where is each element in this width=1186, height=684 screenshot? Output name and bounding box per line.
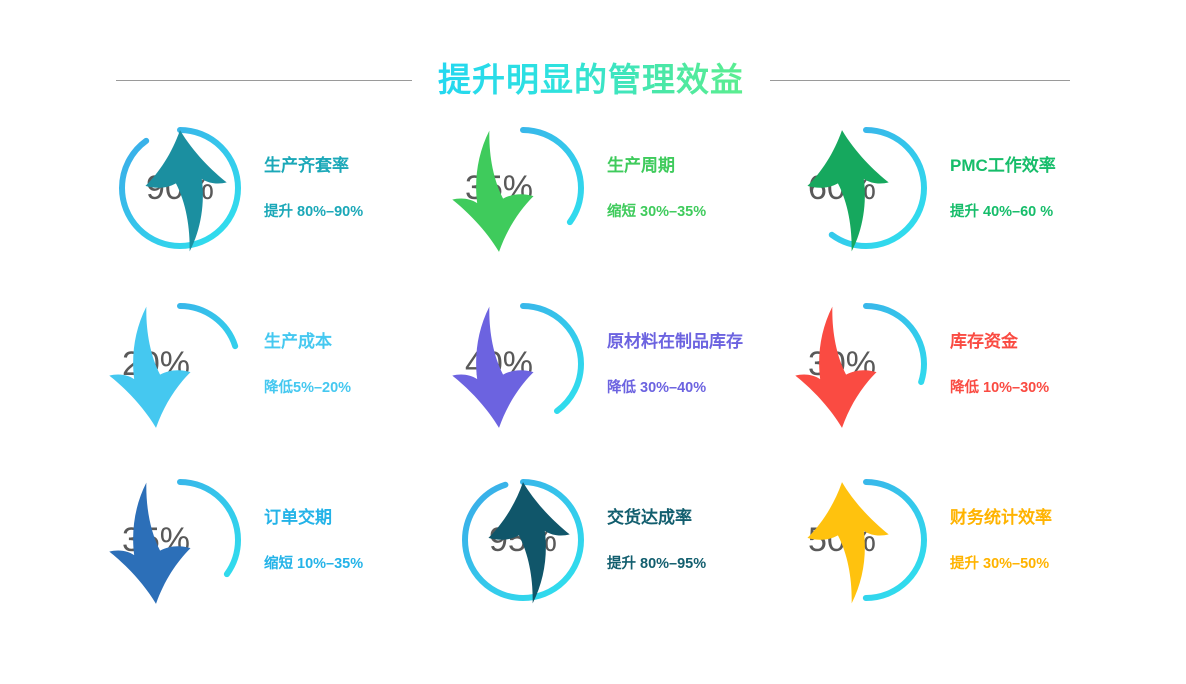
donut-gauge: 40% (457, 298, 589, 430)
gauge-arc (800, 122, 932, 254)
gauge-cell: 90%生产齐套率提升 80%–90% (92, 122, 435, 298)
metric-caption: 交货达成率 (607, 508, 692, 528)
gauge-arc (800, 474, 932, 606)
gauge-cell: 30%库存资金降低 10%–30% (778, 298, 1121, 474)
gauge-labels: 原材料在制品库存降低 30%–40% (607, 332, 743, 398)
gauge-labels: 生产周期缩短 30%–35% (607, 156, 706, 222)
gauge-labels: 生产成本降低5%–20% (264, 332, 351, 398)
gauge-labels: 订单交期缩短 10%–35% (264, 508, 363, 574)
donut-gauge: 35% (457, 122, 589, 254)
donut-gauge: 95% (457, 474, 589, 606)
gauge-arc (114, 474, 246, 606)
header-rule-left (116, 80, 412, 81)
metric-detail: 提升 80%–90% (264, 204, 363, 221)
metric-caption: PMC工作效率 (950, 156, 1056, 176)
gauge-cell: 35%订单交期缩短 10%–35% (92, 474, 435, 650)
gauge-grid: 90%生产齐套率提升 80%–90%35%生产周期缩短 30%–35%60%PM… (92, 122, 1102, 650)
gauge-labels: 交货达成率提升 80%–95% (607, 508, 706, 574)
donut-gauge: 35% (114, 474, 246, 606)
metric-detail: 提升 30%–50% (950, 556, 1049, 573)
gauge-arc (114, 298, 246, 430)
gauge-cell: 60%PMC工作效率提升 40%–60 % (778, 122, 1121, 298)
metric-caption: 原材料在制品库存 (607, 332, 743, 352)
page-header: 提升明显的管理效益 (0, 56, 1186, 104)
infographic-page: 提升明显的管理效益 90%生产齐套率提升 80%–90%35%生产周期缩短 30… (0, 0, 1186, 684)
metric-detail: 缩短 10%–35% (264, 556, 363, 573)
gauge-labels: 库存资金降低 10%–30% (950, 332, 1049, 398)
gauge-cell: 40%原材料在制品库存降低 30%–40% (435, 298, 778, 474)
metric-detail: 提升 80%–95% (607, 556, 706, 573)
metric-detail: 提升 40%–60 % (950, 204, 1053, 221)
donut-gauge: 20% (114, 298, 246, 430)
gauge-cell: 95%交货达成率提升 80%–95% (435, 474, 778, 650)
metric-detail: 降低 30%–40% (607, 380, 706, 397)
metric-detail: 降低5%–20% (264, 380, 351, 397)
donut-gauge: 60% (800, 122, 932, 254)
gauge-cell: 50%财务统计效率提升 30%–50% (778, 474, 1121, 650)
metric-detail: 缩短 30%–35% (607, 204, 706, 221)
gauge-arc (457, 122, 589, 254)
metric-caption: 财务统计效率 (950, 508, 1052, 528)
gauge-labels: 财务统计效率提升 30%–50% (950, 508, 1052, 574)
page-title: 提升明显的管理效益 (438, 61, 744, 99)
gauge-labels: 生产齐套率提升 80%–90% (264, 156, 363, 222)
metric-caption: 生产周期 (607, 156, 675, 176)
gauge-cell: 20%生产成本降低5%–20% (92, 298, 435, 474)
gauge-arc (114, 122, 246, 254)
gauge-arc (457, 474, 589, 606)
gauge-arc (457, 298, 589, 430)
header-rule-right (770, 80, 1070, 81)
metric-caption: 生产齐套率 (264, 156, 349, 176)
gauge-labels: PMC工作效率提升 40%–60 % (950, 156, 1056, 222)
donut-gauge: 50% (800, 474, 932, 606)
metric-caption: 生产成本 (264, 332, 332, 352)
donut-gauge: 90% (114, 122, 246, 254)
donut-gauge: 30% (800, 298, 932, 430)
gauge-cell: 35%生产周期缩短 30%–35% (435, 122, 778, 298)
metric-caption: 订单交期 (264, 508, 332, 528)
gauge-arc (800, 298, 932, 430)
metric-detail: 降低 10%–30% (950, 380, 1049, 397)
metric-caption: 库存资金 (950, 332, 1018, 352)
